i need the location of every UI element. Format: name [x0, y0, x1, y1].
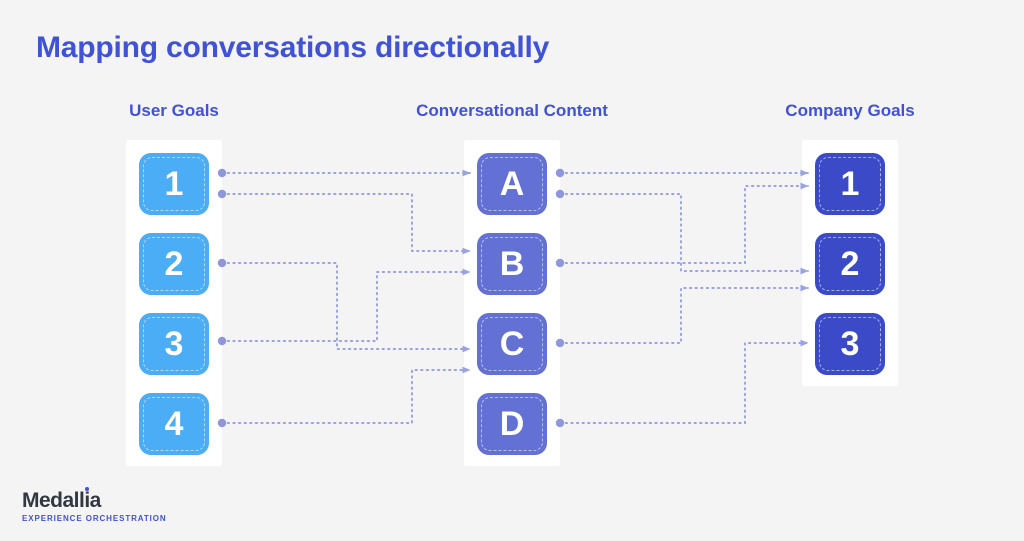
node-user-goal-4[interactable]: 4	[139, 393, 209, 455]
node-company-goal-1[interactable]: 1	[815, 153, 885, 215]
logo-tagline: EXPERIENCE ORCHESTRATION	[22, 515, 167, 523]
logo-wordmark-text: Medallia	[22, 489, 101, 512]
medallia-logo: Medallia EXPERIENCE ORCHESTRATION	[22, 490, 167, 523]
edge-u1-cB	[222, 194, 470, 251]
node-company-goal-2[interactable]: 2	[815, 233, 885, 295]
node-company-goal-3[interactable]: 3	[815, 313, 885, 375]
logo-accent-dot-icon	[85, 487, 89, 491]
slide-canvas: Mapping conversations directionally User…	[0, 0, 1024, 541]
edge-cB-g1	[560, 186, 808, 263]
node-user-goal-3[interactable]: 3	[139, 313, 209, 375]
column-header-company-goals: Company Goals	[785, 101, 914, 121]
logo-wordmark: Medallia	[22, 490, 167, 511]
edge-u3-cB	[222, 272, 470, 341]
node-content-c[interactable]: C	[477, 313, 547, 375]
node-user-goal-1[interactable]: 1	[139, 153, 209, 215]
node-user-goal-2[interactable]: 2	[139, 233, 209, 295]
edge-cA-g2	[560, 194, 808, 271]
edge-u2-cC	[222, 263, 470, 349]
edge-u4-cC	[222, 370, 470, 423]
column-header-conversational-content: Conversational Content	[416, 101, 608, 121]
page-title: Mapping conversations directionally	[36, 31, 549, 65]
column-header-user-goals: User Goals	[129, 101, 219, 121]
node-content-a[interactable]: A	[477, 153, 547, 215]
node-content-d[interactable]: D	[477, 393, 547, 455]
node-content-b[interactable]: B	[477, 233, 547, 295]
edge-cD-g3	[560, 343, 808, 423]
edge-cC-g2	[560, 288, 808, 343]
